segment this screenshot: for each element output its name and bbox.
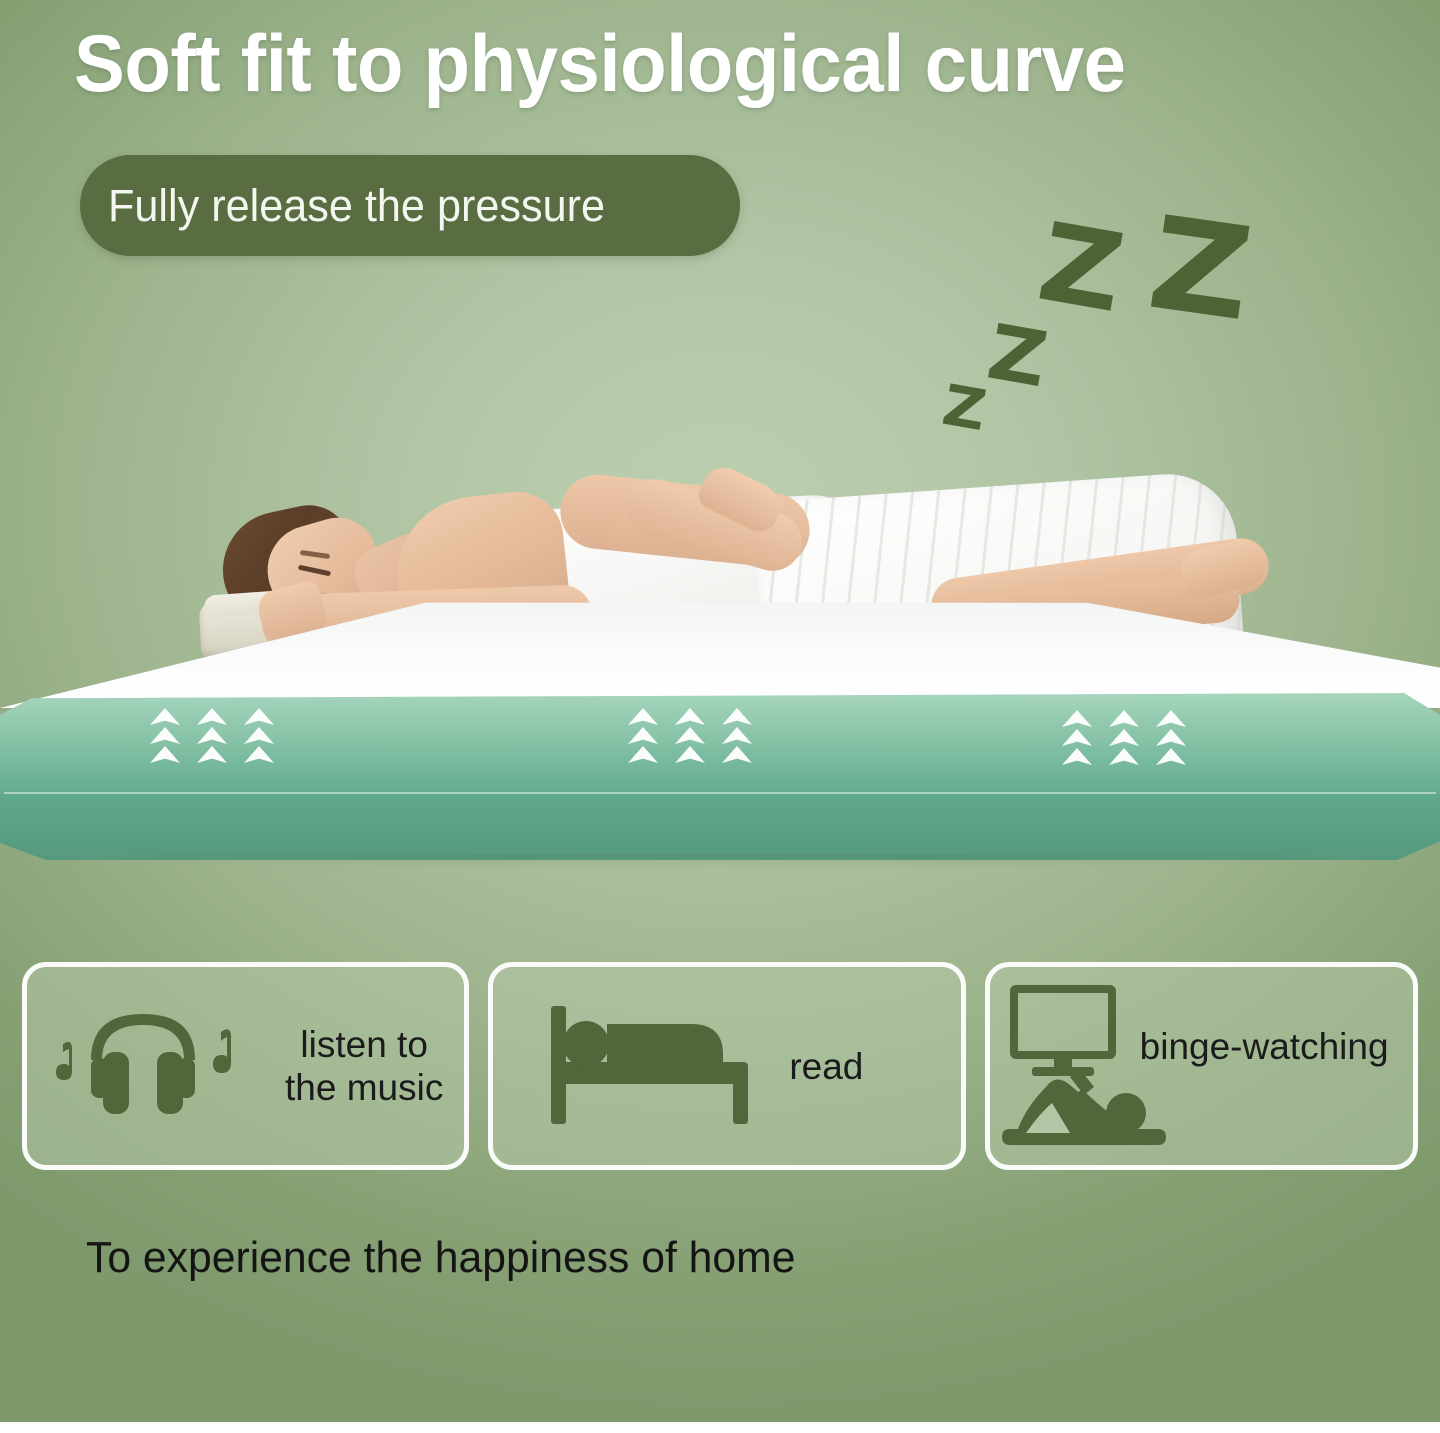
chevron-up-icon	[150, 746, 180, 763]
chevron-up-icon	[1156, 729, 1186, 746]
feature-card-label: listen to the music	[285, 1023, 443, 1109]
mattress-seam-line	[4, 792, 1436, 794]
chevron-column	[197, 708, 227, 763]
feature-card-label: read	[789, 1045, 863, 1088]
chevron-up-icon	[244, 727, 274, 744]
chevron-up-icon	[722, 727, 752, 744]
chevron-up-icon	[244, 746, 274, 763]
chevron-up-icon	[1109, 710, 1139, 727]
chevron-up-icon	[675, 746, 705, 763]
headphones-icon	[53, 996, 269, 1136]
feature-card-row: listen to the music read	[22, 962, 1418, 1170]
feature-card-binge-watching[interactable]: binge-watching	[985, 962, 1418, 1170]
chevron-up-icon	[628, 746, 658, 763]
chevron-up-icon	[722, 708, 752, 725]
footer-caption: To experience the happiness of home	[86, 1232, 795, 1284]
feature-card-label: binge-watching	[1140, 1025, 1389, 1068]
chevron-column	[628, 708, 658, 763]
chevron-column	[1109, 710, 1139, 765]
chevron-up-icon	[197, 746, 227, 763]
chevron-group-left	[150, 708, 274, 763]
chevron-up-icon	[722, 746, 752, 763]
chevron-up-icon	[675, 708, 705, 725]
mattress-drop-shadow	[20, 854, 1420, 870]
page-headline: Soft fit to physiological curve	[74, 18, 1352, 110]
chevron-up-icon	[1062, 710, 1092, 727]
bed-icon	[549, 1004, 759, 1128]
chevron-up-icon	[1156, 710, 1186, 727]
chevron-group-right	[1062, 710, 1186, 765]
chevron-up-icon	[197, 727, 227, 744]
chevron-up-icon	[628, 708, 658, 725]
chevron-column	[150, 708, 180, 763]
bottom-white-strip	[0, 1422, 1440, 1433]
zzz-large-icon: Z	[1142, 200, 1259, 341]
chevron-column	[722, 708, 752, 763]
chevron-up-icon	[1109, 748, 1139, 765]
chevron-up-icon	[628, 727, 658, 744]
chevron-column	[244, 708, 274, 763]
chevron-up-icon	[1156, 748, 1186, 765]
subtitle-pill-label: Fully release the pressure	[108, 155, 696, 256]
chevron-column	[1156, 710, 1186, 765]
chevron-up-icon	[1062, 729, 1092, 746]
chevron-column	[1062, 710, 1092, 765]
chevron-group-center	[628, 708, 752, 763]
chevron-up-icon	[150, 727, 180, 744]
subtitle-pill: Fully release the pressure	[80, 155, 740, 256]
chevron-column	[675, 708, 705, 763]
chevron-up-icon	[1062, 748, 1092, 765]
feature-card-read[interactable]: read	[488, 962, 965, 1170]
mattress-top-surface	[0, 596, 1440, 708]
chevron-up-icon	[1109, 729, 1139, 746]
chevron-up-icon	[150, 708, 180, 725]
product-marketing-image: Soft fit to physiological curve Fully re…	[0, 0, 1440, 1433]
mattress-base-layer	[0, 794, 1440, 860]
chevron-up-icon	[244, 708, 274, 725]
chevron-up-icon	[197, 708, 227, 725]
chevron-up-icon	[675, 727, 705, 744]
feature-card-listen-to-the-music[interactable]: listen to the music	[22, 962, 469, 1170]
